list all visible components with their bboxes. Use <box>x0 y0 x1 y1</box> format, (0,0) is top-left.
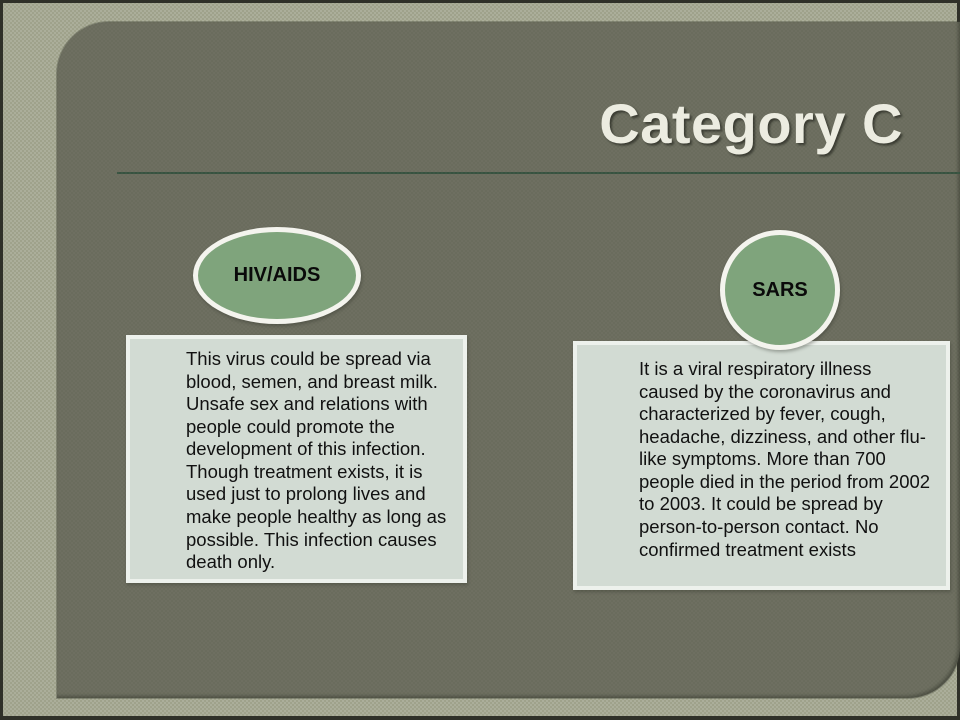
topic-bubble-hiv-aids[interactable]: HIV/AIDS <box>193 227 361 324</box>
slide-inner-panel: Category C HIV/AIDS SARS This virus coul… <box>57 22 960 698</box>
slide-title: Category C <box>599 96 903 152</box>
description-text: It is a viral respiratory illness caused… <box>639 358 934 561</box>
description-card-hiv-aids: This virus could be spread via blood, se… <box>126 335 467 583</box>
slide-edge-left <box>0 0 3 720</box>
topic-bubble-label: SARS <box>752 279 808 302</box>
slide-edge-bottom <box>0 716 960 720</box>
title-divider <box>117 172 960 174</box>
slide-edge-top <box>0 0 960 3</box>
topic-bubble-sars[interactable]: SARS <box>720 230 840 350</box>
description-card-sars: It is a viral respiratory illness caused… <box>573 341 950 590</box>
description-text: This virus could be spread via blood, se… <box>186 348 449 574</box>
topic-bubble-label: HIV/AIDS <box>234 264 321 287</box>
presentation-slide: Category C HIV/AIDS SARS This virus coul… <box>0 0 960 720</box>
